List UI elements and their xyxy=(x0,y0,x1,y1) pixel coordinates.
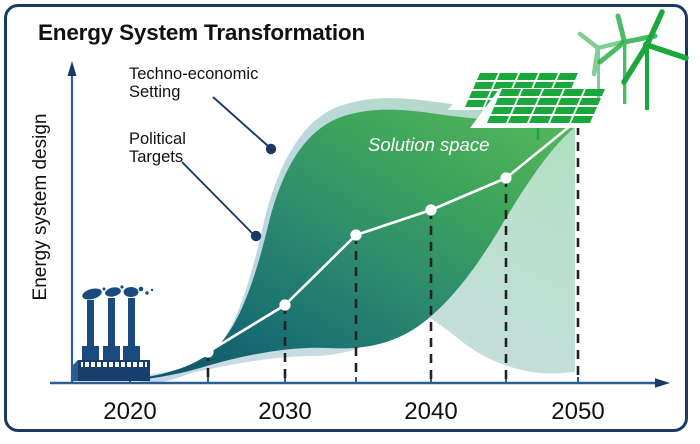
callout-political-line1: Political xyxy=(129,130,186,148)
callout-leader-political xyxy=(182,162,261,241)
callout-political-targets: Political Targets xyxy=(129,130,186,167)
x-tick-label-2040: 2040 xyxy=(404,398,457,426)
callout-techno-line1: Techno-economic xyxy=(129,65,258,83)
callout-techno-economic: Techno-economic Setting xyxy=(129,65,258,102)
page-title: Energy System Transformation xyxy=(38,20,365,46)
x-tick-label-2030: 2030 xyxy=(258,398,311,426)
callout-leader-techno xyxy=(213,97,276,154)
solution-space-label: Solution space xyxy=(368,134,489,156)
y-axis-label: Energy system design xyxy=(30,102,52,312)
x-tick-label-2050: 2050 xyxy=(551,398,604,426)
factory-icon xyxy=(72,285,153,381)
infographic-figure: Energy System Transformation Energy syst… xyxy=(0,0,700,444)
callout-techno-line2: Setting xyxy=(129,83,258,101)
x-tick-label-2020: 2020 xyxy=(103,398,156,426)
callout-political-line2: Targets xyxy=(129,148,186,166)
chart-canvas xyxy=(0,0,700,444)
